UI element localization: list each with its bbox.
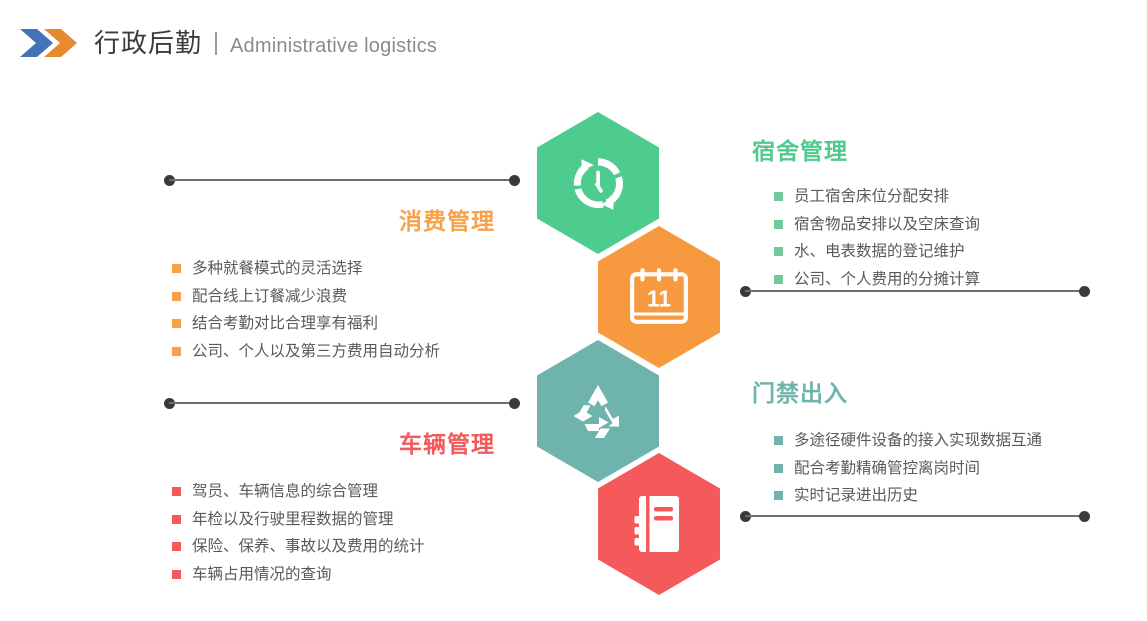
section-title-access: 门禁出入 — [752, 382, 1112, 405]
bullet-list-dormitory: 员工宿舍床位分配安排 宿舍物品安排以及空床查询 水、电表数据的登记维护 公司、个… — [752, 183, 1112, 293]
page-subtitle: Administrative logistics — [230, 35, 437, 58]
list-item-label: 配合考勤精确管控离岗时间 — [794, 461, 980, 477]
bullet-square-icon — [172, 542, 181, 551]
list-item-label: 公司、个人以及第三方费用自动分析 — [192, 344, 440, 360]
section-title-dormitory: 宿舍管理 — [752, 140, 1112, 163]
bullet-list-access: 多途径硬件设备的接入实现数据互通 配合考勤精确管控离岗时间 实时记录进出历史 — [752, 427, 1112, 510]
header-divider — [215, 32, 217, 55]
section-consumption: 消费管理 多种就餐模式的灵活选择 配合线上订餐减少浪费 结合考勤对比合理享有福利… — [150, 210, 495, 365]
bullet-list-vehicle: 驾员、车辆信息的综合管理 年检以及行驶里程数据的管理 保险、保养、事故以及费用的… — [150, 478, 495, 588]
bullet-square-icon — [172, 264, 181, 273]
section-title-vehicle: 车辆管理 — [150, 433, 495, 456]
hexagon-vehicle[interactable] — [537, 340, 659, 482]
list-item-label: 结合考勤对比合理享有福利 — [192, 316, 378, 332]
list-item: 公司、个人费用的分摊计算 — [774, 266, 1112, 294]
section-vehicle: 车辆管理 驾员、车辆信息的综合管理 年检以及行驶里程数据的管理 保险、保养、事故… — [150, 433, 495, 588]
list-item-label: 宿舍物品安排以及空床查询 — [794, 217, 980, 233]
list-item-label: 年检以及行驶里程数据的管理 — [192, 512, 394, 528]
list-item-label: 保险、保养、事故以及费用的统计 — [192, 539, 425, 555]
connector-line-consumption — [164, 175, 520, 186]
connector-dot-right — [509, 398, 520, 409]
list-item: 多种就餐模式的灵活选择 — [172, 255, 495, 283]
list-item-label: 员工宿舍床位分配安排 — [794, 189, 949, 205]
list-item-label: 驾员、车辆信息的综合管理 — [192, 484, 378, 500]
list-item-label: 多途径硬件设备的接入实现数据互通 — [794, 433, 1042, 449]
list-item: 保险、保养、事故以及费用的统计 — [172, 533, 495, 561]
list-item: 结合考勤对比合理享有福利 — [172, 310, 495, 338]
list-item: 水、电表数据的登记维护 — [774, 238, 1112, 266]
hexagon-dormitory[interactable]: 11 — [598, 226, 720, 368]
bullet-square-icon — [172, 570, 181, 579]
list-item: 实时记录进出历史 — [774, 482, 1112, 510]
list-item: 公司、个人以及第三方费用自动分析 — [172, 338, 495, 366]
connector-bar — [745, 515, 1085, 517]
list-item: 驾员、车辆信息的综合管理 — [172, 478, 495, 506]
list-item: 车辆占用情况的查询 — [172, 561, 495, 589]
refresh-clock-icon — [565, 150, 631, 216]
connector-bar — [169, 402, 515, 404]
notebook-icon — [632, 493, 686, 555]
bullet-square-icon — [172, 347, 181, 356]
bullet-square-icon — [172, 515, 181, 524]
list-item-label: 配合线上订餐减少浪费 — [192, 289, 347, 305]
bullet-list-consumption: 多种就餐模式的灵活选择 配合线上订餐减少浪费 结合考勤对比合理享有福利 公司、个… — [150, 255, 495, 365]
list-item: 多途径硬件设备的接入实现数据互通 — [774, 427, 1112, 455]
connector-dot-right — [509, 175, 520, 186]
section-dormitory: 宿舍管理 员工宿舍床位分配安排 宿舍物品安排以及空床查询 水、电表数据的登记维护… — [752, 140, 1112, 293]
hexagon-access[interactable] — [598, 453, 720, 595]
bullet-square-icon — [774, 436, 783, 445]
bullet-square-icon — [774, 220, 783, 229]
list-item: 年检以及行驶里程数据的管理 — [172, 506, 495, 534]
bullet-square-icon — [172, 292, 181, 301]
section-title-consumption: 消费管理 — [150, 210, 495, 233]
list-item-label: 实时记录进出历史 — [794, 488, 918, 504]
double-chevron-logo-icon — [18, 26, 80, 60]
slide-header: 行政后勤 Administrative logistics — [0, 0, 1147, 86]
page-title: 行政后勤 — [94, 30, 202, 56]
slide-canvas: 行政后勤 Administrative logistics — [0, 0, 1147, 621]
bullet-square-icon — [774, 275, 783, 284]
bullet-square-icon — [774, 247, 783, 256]
list-item: 配合考勤精确管控离岗时间 — [774, 455, 1112, 483]
list-item: 配合线上订餐减少浪费 — [172, 283, 495, 311]
connector-line-access — [740, 511, 1090, 522]
connector-bar — [169, 179, 515, 181]
list-item-label: 公司、个人费用的分摊计算 — [794, 272, 980, 288]
section-access: 门禁出入 多途径硬件设备的接入实现数据互通 配合考勤精确管控离岗时间 实时记录进… — [752, 382, 1112, 510]
list-item-label: 水、电表数据的登记维护 — [794, 244, 965, 260]
bullet-square-icon — [774, 491, 783, 500]
list-item: 宿舍物品安排以及空床查询 — [774, 211, 1112, 239]
connector-dot-right — [1079, 511, 1090, 522]
calendar-icon: 11 — [626, 266, 692, 328]
list-item-label: 车辆占用情况的查询 — [192, 567, 332, 583]
list-item-label: 多种就餐模式的灵活选择 — [192, 261, 363, 277]
calendar-day-number: 11 — [647, 285, 671, 311]
bullet-square-icon — [774, 192, 783, 201]
connector-line-vehicle — [164, 398, 520, 409]
recycle-icon — [566, 381, 630, 441]
bullet-square-icon — [172, 487, 181, 496]
bullet-square-icon — [774, 464, 783, 473]
bullet-square-icon — [172, 319, 181, 328]
list-item: 员工宿舍床位分配安排 — [774, 183, 1112, 211]
hexagon-consumption[interactable] — [537, 112, 659, 254]
